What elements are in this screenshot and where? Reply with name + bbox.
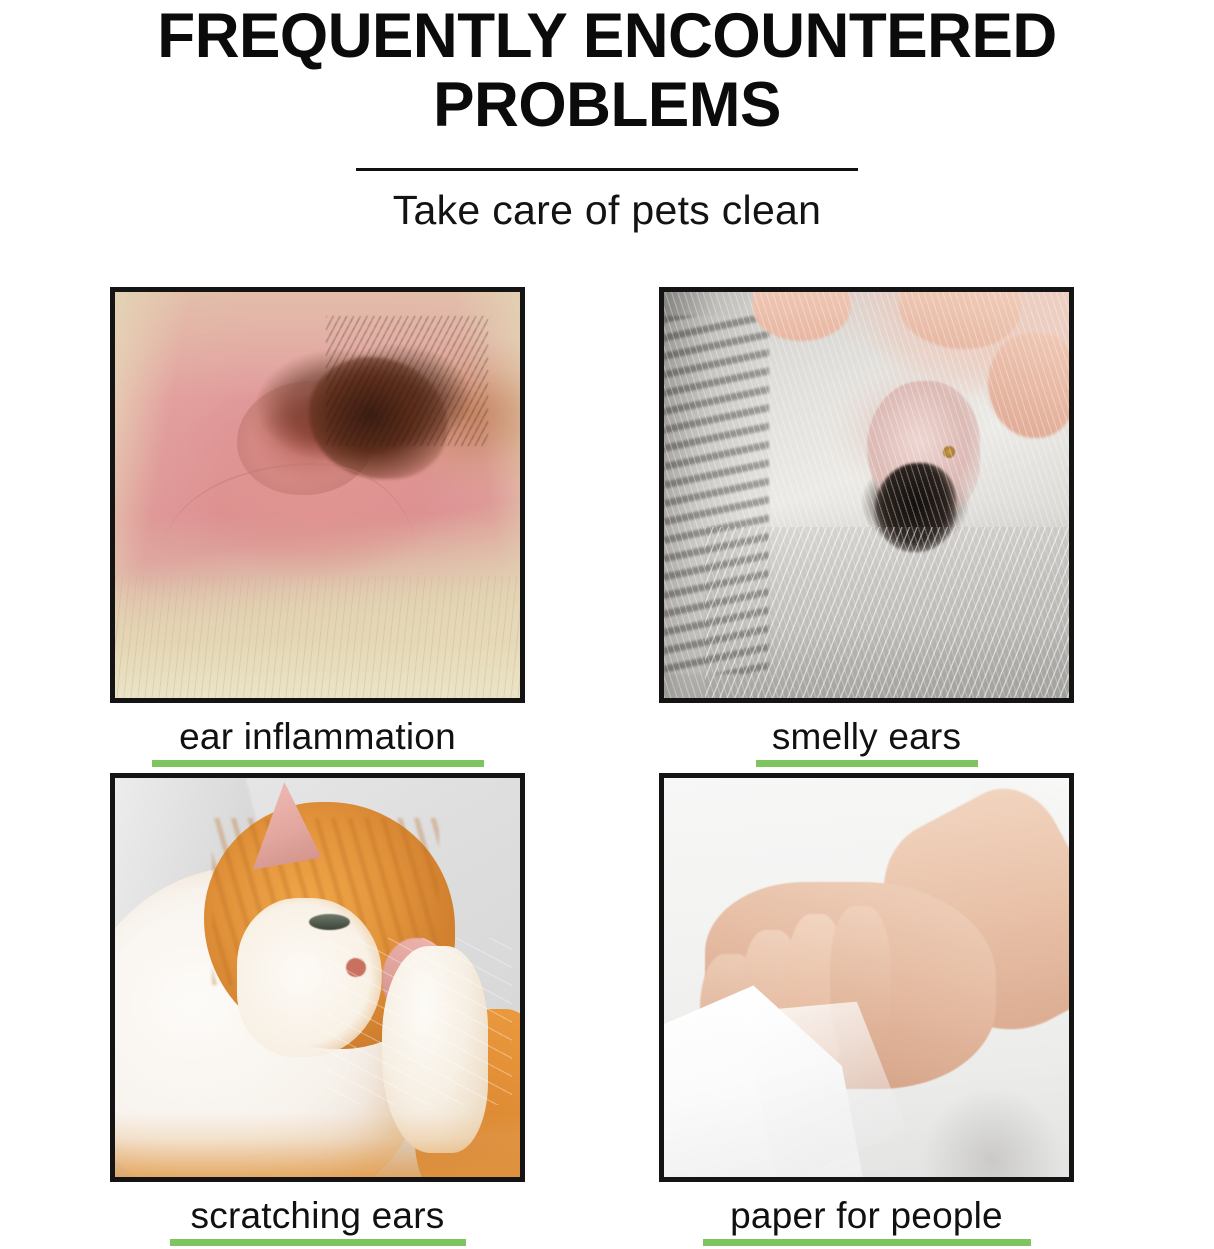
photo-frame-paper-for-people xyxy=(659,773,1074,1182)
photo-frame-ear-inflammation xyxy=(110,287,525,703)
caption-scratching-ears: scratching ears xyxy=(110,1194,525,1246)
photo-paper-for-people xyxy=(664,778,1069,1177)
caption-text: scratching ears xyxy=(191,1194,445,1238)
problem-card-paper-for-people: paper for people xyxy=(659,773,1074,1246)
hair-texture xyxy=(326,316,488,446)
caption-text: paper for people xyxy=(730,1194,1003,1238)
caption-underline xyxy=(170,1239,466,1246)
page-header: FREQUENTLY ENCOUNTERED PROBLEMS Take car… xyxy=(0,0,1214,233)
title-divider xyxy=(356,168,858,171)
caption-text: smelly ears xyxy=(772,715,961,759)
caption-paper-for-people: paper for people xyxy=(659,1194,1074,1246)
background-shadow xyxy=(923,1089,1061,1177)
problem-card-scratching-ears: scratching ears xyxy=(110,773,525,1246)
fur-bottom xyxy=(115,1113,520,1177)
fur-texture-lower xyxy=(705,527,1070,698)
caption-underline xyxy=(756,760,978,767)
problem-card-smelly-ears: smelly ears xyxy=(659,287,1074,767)
title-divider-wrap xyxy=(0,168,1214,171)
photo-frame-smelly-ears xyxy=(659,287,1074,703)
photo-smelly-ears xyxy=(664,292,1069,698)
page-subtitle: Take care of pets clean xyxy=(0,187,1214,233)
cat-eye-shape xyxy=(309,914,350,930)
problem-card-ear-inflammation: ear inflammation xyxy=(110,287,525,767)
photo-scratching-ears xyxy=(115,778,520,1177)
fur-bottom xyxy=(115,576,520,698)
page-title: FREQUENTLY ENCOUNTERED PROBLEMS xyxy=(9,2,1205,140)
problem-grid: ear inflammation smelly ears xyxy=(110,287,1074,1246)
caption-text: ear inflammation xyxy=(179,715,456,759)
photo-frame-scratching-ears xyxy=(110,773,525,1182)
photo-ear-inflammation xyxy=(115,292,520,698)
caption-underline xyxy=(152,760,484,767)
whisker-texture xyxy=(326,938,512,1106)
caption-smelly-ears: smelly ears xyxy=(659,715,1074,767)
caption-underline xyxy=(703,1239,1031,1246)
caption-ear-inflammation: ear inflammation xyxy=(110,715,525,767)
